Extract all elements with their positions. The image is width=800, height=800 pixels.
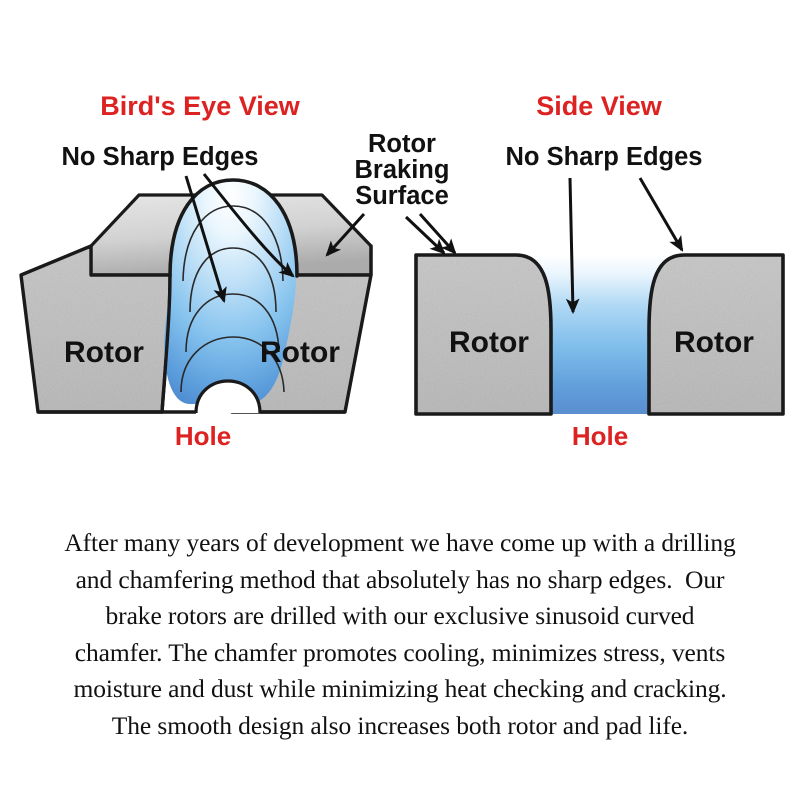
caption-line: chamfer. The chamfer promotes cooling, m… <box>0 635 800 672</box>
caption-line: After many years of development we have … <box>0 525 800 562</box>
side-view-no-sharp-edges-label: No Sharp Edges <box>506 143 703 171</box>
side-view-hole-label: Hole <box>572 421 628 451</box>
caption-line: The smooth design also increases both ro… <box>0 708 800 745</box>
side-view-title: Side View <box>536 91 663 121</box>
svg-text:Surface: Surface <box>355 182 449 210</box>
chamfer-bowl <box>162 180 304 412</box>
side-view-rotor-left-label: Rotor <box>449 326 529 359</box>
birds-eye-view-title: Bird's Eye View <box>100 91 301 121</box>
birds-eye-hole-label: Hole <box>175 421 231 451</box>
birds-eye-view-panel: Bird's Eye View No Sharp Edges Rotor Bra… <box>21 91 455 451</box>
svg-text:Braking: Braking <box>355 156 450 184</box>
side-view-panel: Side View No Sharp Edges Rotor Rotor Hol… <box>406 91 783 451</box>
caption-line: moisture and dust while minimizing heat … <box>0 671 800 708</box>
rotor-right-label: Rotor <box>260 336 340 369</box>
svg-text:Rotor: Rotor <box>368 130 436 158</box>
caption-line: and chamfering method that absolutely ha… <box>0 562 800 599</box>
rotor-braking-surface-label: Rotor Braking Surface <box>355 130 450 210</box>
rotor-left-label: Rotor <box>64 336 144 369</box>
caption-line: brake rotors are drilled with our exclus… <box>0 598 800 635</box>
side-view-rotor-right-label: Rotor <box>674 326 754 359</box>
birds-eye-no-sharp-edges-label: No Sharp Edges <box>62 143 259 171</box>
arrow-side-no-sharp-edges-right <box>640 178 682 250</box>
caption-paragraph: After many years of development we have … <box>0 525 800 744</box>
